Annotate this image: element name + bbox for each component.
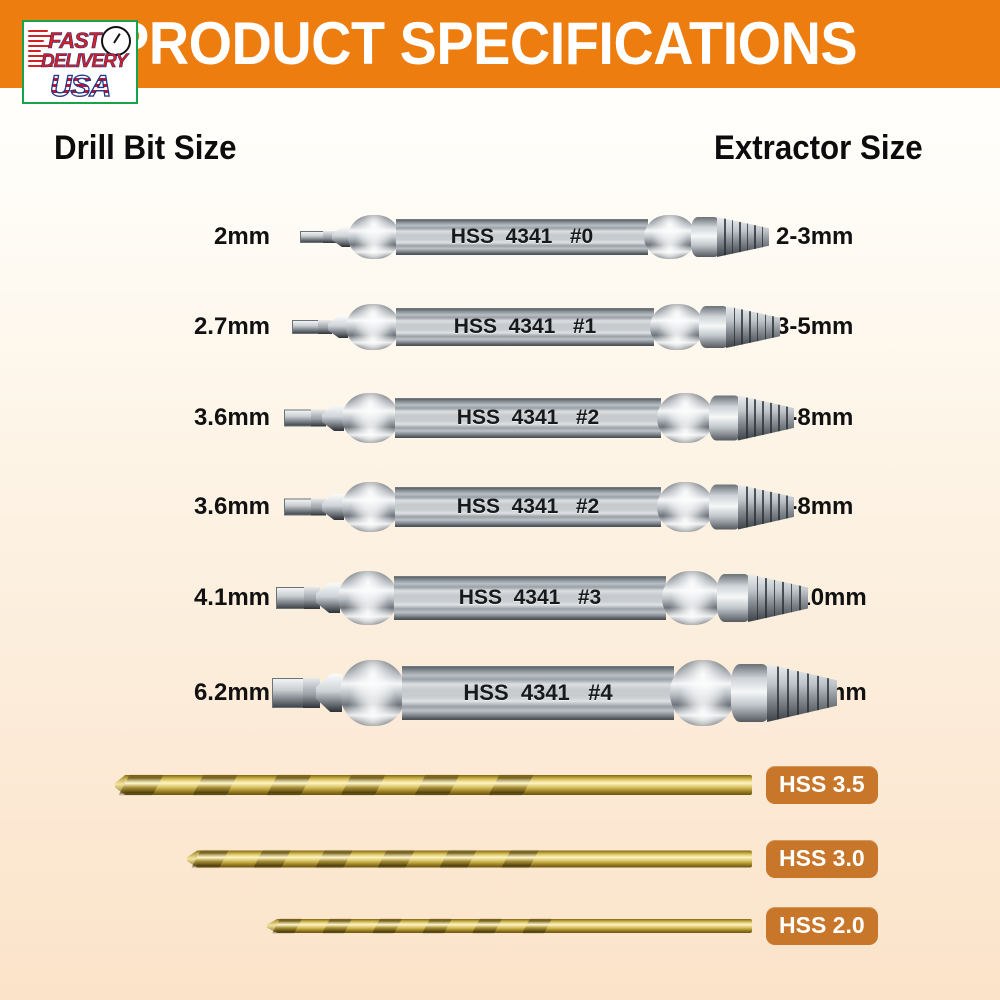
bit-waist-left	[348, 215, 400, 259]
drill-bit-size-label: 2mm	[214, 223, 270, 251]
bit-body: HSS 4341 #4	[402, 666, 674, 720]
screw-extractor-bit: HSS 4341 #3	[276, 571, 805, 625]
hss-size-badge: HSS 3.0	[766, 840, 878, 878]
product-specifications-infographic: PRODUCT SPECIFICATIONS FAST DELIVERY USA…	[0, 0, 1000, 1000]
screw-extractor-bit: HSS 4341 #1	[292, 304, 781, 350]
drill-flutes	[124, 775, 568, 795]
hss-size-badge: HSS 2.0	[766, 907, 878, 945]
extractor-row: 2.7mm3-5mmHSS 4341 #1	[0, 288, 1000, 366]
extractor-row: 2mm2-3mmHSS 4341 #0	[0, 198, 1000, 276]
drill-bit-row: HSS 3.5	[0, 762, 1000, 808]
drill-bit-row: HSS 2.0	[0, 908, 1000, 944]
screw-extractor-bit: HSS 4341 #0	[300, 215, 772, 259]
bit-body: HSS 4341 #1	[396, 308, 654, 346]
bit-body: HSS 4341 #2	[395, 398, 661, 438]
screwdriver-tip-icon	[284, 410, 326, 427]
bit-body: HSS 4341 #3	[394, 576, 666, 620]
extractor-stepped-cone	[748, 574, 808, 622]
bit-body-text: HSS 4341 #0	[451, 225, 593, 249]
drill-bit-size-label: 2.7mm	[194, 313, 270, 341]
bit-waist-left	[342, 393, 399, 443]
screw-extractor-bit: HSS 4341 #2	[284, 393, 793, 443]
bit-waist-left	[340, 660, 406, 726]
bit-graphic: HSS 4341 #3	[276, 571, 805, 625]
drill-bit-size-label: 6.2mm	[194, 679, 270, 707]
page-title: PRODUCT SPECIFICATIONS	[112, 14, 913, 74]
drill-flutes	[276, 919, 576, 933]
bit-graphic: HSS 4341 #2	[284, 393, 793, 443]
badge-line-fast: FAST	[48, 30, 100, 52]
bit-graphic: HSS 4341 #4	[272, 660, 832, 726]
screwdriver-tip-icon	[300, 231, 336, 243]
bit-graphic: HSS 4341 #2	[284, 482, 793, 532]
drill-flutes	[196, 851, 568, 868]
bit-hex-collar	[699, 306, 730, 348]
fast-delivery-usa-badge: FAST DELIVERY USA	[22, 20, 138, 104]
column-header-extractor-size: Extractor Size	[714, 130, 941, 167]
extractor-size-label: 3-5mm	[776, 313, 853, 341]
screw-extractor-bit: HSS 4341 #2	[284, 482, 793, 532]
bit-waist-right	[650, 304, 704, 350]
extractor-stepped-cone	[738, 396, 794, 441]
screwdriver-tip-icon	[284, 499, 326, 516]
bit-body: HSS 4341 #2	[395, 487, 661, 527]
bit-body: HSS 4341 #0	[396, 219, 648, 255]
drill-bit-size-label: 4.1mm	[194, 584, 270, 612]
bit-waist-right	[657, 482, 714, 532]
extractor-row: 3.6mm4-8mmHSS 4341 #2	[0, 467, 1000, 547]
extractor-stepped-cone	[738, 485, 794, 530]
bit-hex-collar	[717, 574, 752, 622]
bit-hex-collar	[691, 217, 721, 257]
drill-bit-row: HSS 3.0	[0, 838, 1000, 880]
extractor-row: 6.2mm6-12mmHSS 4341 #4	[0, 645, 1000, 741]
extractor-stepped-cone	[717, 217, 769, 257]
drill-bit-size-label: 3.6mm	[194, 493, 270, 521]
twist-drill-bit	[124, 775, 752, 795]
badge-line-usa: USA	[50, 72, 110, 102]
screwdriver-tip-icon	[272, 678, 320, 708]
hss-size-badge: HSS 3.5	[766, 766, 878, 804]
bit-waist-left	[342, 482, 399, 532]
extractor-size-label: 2-3mm	[776, 223, 853, 251]
extractor-stepped-cone	[726, 306, 780, 348]
screwdriver-tip-icon	[276, 587, 320, 609]
drill-bit-size-label: 3.6mm	[194, 404, 270, 432]
screwdriver-tip-icon	[292, 320, 332, 334]
extractor-row: 3.6mm4-8mmHSS 4341 #2	[0, 378, 1000, 458]
header-bar: PRODUCT SPECIFICATIONS	[0, 0, 1000, 88]
extractor-stepped-cone	[767, 664, 837, 722]
bit-waist-left	[346, 304, 400, 350]
bit-graphic: HSS 4341 #1	[292, 304, 781, 350]
bit-body-text: HSS 4341 #2	[457, 495, 599, 519]
bit-graphic: HSS 4341 #0	[300, 215, 772, 259]
bit-body-text: HSS 4341 #2	[457, 406, 599, 430]
bit-hex-collar	[709, 485, 742, 530]
bit-hex-collar	[731, 664, 771, 722]
bit-body-text: HSS 4341 #4	[463, 680, 612, 706]
extractor-row: 4.1mm5-10mmHSS 4341 #3	[0, 556, 1000, 640]
bit-waist-right	[662, 571, 722, 625]
column-header-drill-bit-size: Drill Bit Size	[54, 130, 252, 167]
bit-waist-right	[670, 660, 736, 726]
bit-body-text: HSS 4341 #1	[454, 315, 596, 339]
bit-hex-collar	[709, 396, 742, 441]
bit-waist-left	[338, 571, 398, 625]
twist-drill-bit	[276, 919, 752, 933]
screw-extractor-bit: HSS 4341 #4	[272, 660, 832, 726]
bit-waist-right	[657, 393, 714, 443]
page-title-text: PRODUCT SPECIFICATIONS	[112, 14, 857, 74]
column-header-extractor-size-text: Extractor Size	[714, 130, 923, 167]
bit-body-text: HSS 4341 #3	[459, 586, 601, 610]
badge-line-delivery: DELIVERY	[41, 52, 127, 71]
twist-drill-bit	[196, 851, 752, 868]
column-header-drill-bit-size-text: Drill Bit Size	[54, 130, 237, 167]
bit-waist-right	[644, 215, 696, 259]
